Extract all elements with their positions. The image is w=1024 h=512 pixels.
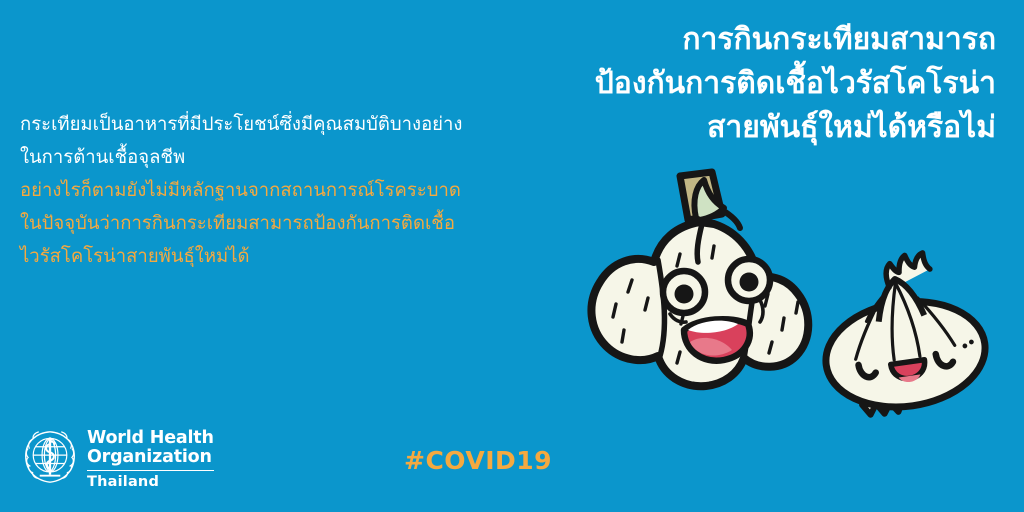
body-copy: กระเทียมเป็นอาหารที่มีประโยชน์ซึ่งมีคุณส… xyxy=(20,108,540,273)
hashtag-covid19: #COVID19 xyxy=(404,446,552,475)
headline-line-2: ป้องกันการติดเชื้อไวรัสโคโรน่า xyxy=(376,62,996,106)
who-country: Thailand xyxy=(87,474,214,490)
body-line-4: ในปัจจุบันว่าการกินกระเทียมสามารถป้องกัน… xyxy=(20,207,540,240)
body-line-1: กระเทียมเป็นอาหารที่มีประโยชน์ซึ่งมีคุณส… xyxy=(20,108,540,141)
who-emblem-icon xyxy=(22,428,78,486)
body-line-3: อย่างไรก็ตามยังไม่มีหลักฐานจากสถานการณ์โ… xyxy=(20,174,540,207)
headline-line-1: การกินกระเทียมสามารถ xyxy=(376,18,996,62)
who-line-2: Organization xyxy=(87,448,214,467)
poster-canvas: การกินกระเทียมสามารถ ป้องกันการติดเชื้อไ… xyxy=(0,0,1024,512)
body-line-5: ไวรัสโคโรน่าสายพันธุ์ใหม่ได้ xyxy=(20,240,540,273)
who-line-1: World Health xyxy=(87,429,214,448)
who-wordmark: World Health Organization Thailand xyxy=(87,428,214,490)
body-line-2: ในการต้านเชื้อจุลชีพ xyxy=(20,141,540,174)
garlic-illustration xyxy=(560,160,1024,512)
garlic-shocked xyxy=(591,172,808,386)
garlic-happy xyxy=(813,246,993,421)
who-logo: World Health Organization Thailand xyxy=(22,428,214,490)
who-divider xyxy=(87,470,214,471)
